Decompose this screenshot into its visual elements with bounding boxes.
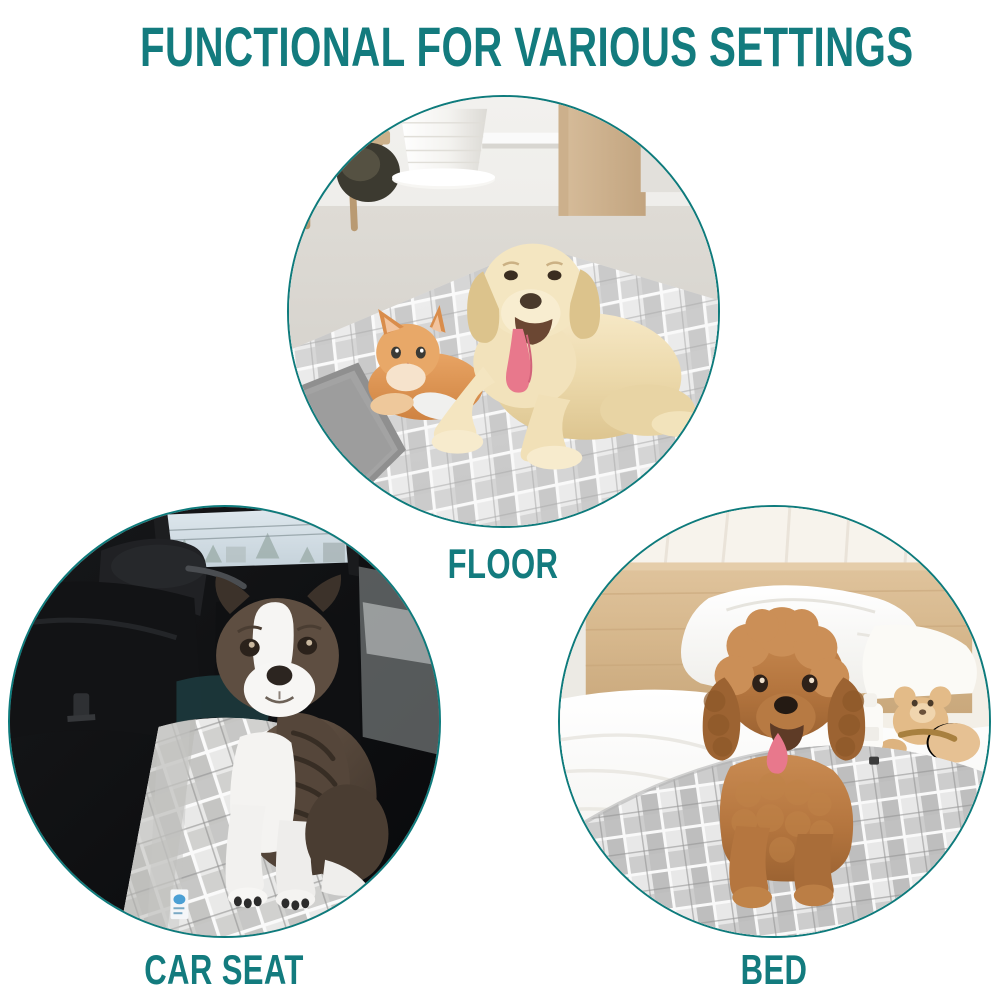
page-title: FUNCTIONAL FOR VARIOUS SETTINGS: [140, 18, 860, 77]
tile-caption-floor: FLOOR: [355, 540, 651, 588]
bed-scene-illustration: [560, 507, 989, 936]
photo-tile-floor: [287, 95, 720, 528]
photo-tile-bed: [558, 505, 991, 938]
floor-scene-illustration: [289, 97, 718, 526]
brand-tag: [171, 889, 189, 919]
tile-caption-carseat: CAR SEAT: [76, 946, 372, 994]
tile-caption-bed: BED: [626, 946, 922, 994]
carseat-scene-illustration: [10, 507, 439, 936]
photo-tile-carseat: [8, 505, 441, 938]
